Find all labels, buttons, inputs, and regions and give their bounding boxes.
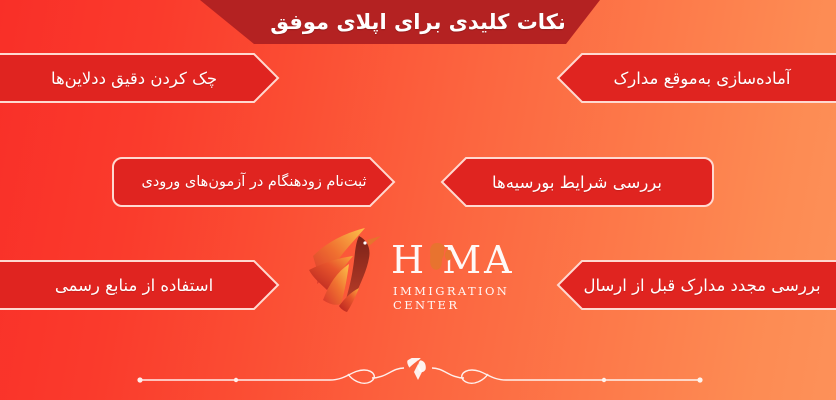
phoenix-icon	[305, 222, 401, 314]
flourish-ornament	[0, 358, 836, 392]
tip-pill-early-exam-reg[interactable]: ثبت‌نام زودهنگام در آزمون‌های ورودی	[110, 154, 398, 210]
tip-pill-official-sources[interactable]: استفاده از منابع رسمی	[0, 257, 282, 313]
tip-label: ثبت‌نام زودهنگام در آزمون‌های ورودی	[110, 174, 398, 190]
tip-label: چک کردن دقیق ددلاین‌ها	[0, 69, 282, 88]
header-banner: نکات کلیدی برای اپلای موفق	[0, 0, 836, 44]
tip-pill-recheck-docs[interactable]: بررسی مجدد مدارک قبل از ارسال	[554, 257, 836, 313]
brand-logo: H MA IMMIGRATION CENTER	[305, 222, 531, 314]
poster-root: نکات کلیدی برای اپلای موفق چک کردن دقیق …	[0, 0, 836, 400]
tip-label: آماده‌سازی به‌موقع مدارک	[554, 69, 836, 88]
logo-tagline: IMMIGRATION CENTER	[393, 284, 531, 312]
tip-pill-scholarships[interactable]: بررسی شرایط بورسیه‌ها	[438, 154, 716, 210]
page-title: نکات کلیدی برای اپلای موفق	[0, 0, 836, 44]
tip-pill-deadlines[interactable]: چک کردن دقیق ددلاین‌ها	[0, 50, 282, 106]
globe-icon	[423, 240, 457, 274]
tip-label: بررسی شرایط بورسیه‌ها	[438, 173, 716, 192]
tip-pill-documents-ready[interactable]: آماده‌سازی به‌موقع مدارک	[554, 50, 836, 106]
tip-label: بررسی مجدد مدارک قبل از ارسال	[554, 276, 836, 295]
footer: homa.apply 021-91010 246	[0, 322, 836, 400]
tip-label: استفاده از منابع رسمی	[0, 276, 282, 295]
